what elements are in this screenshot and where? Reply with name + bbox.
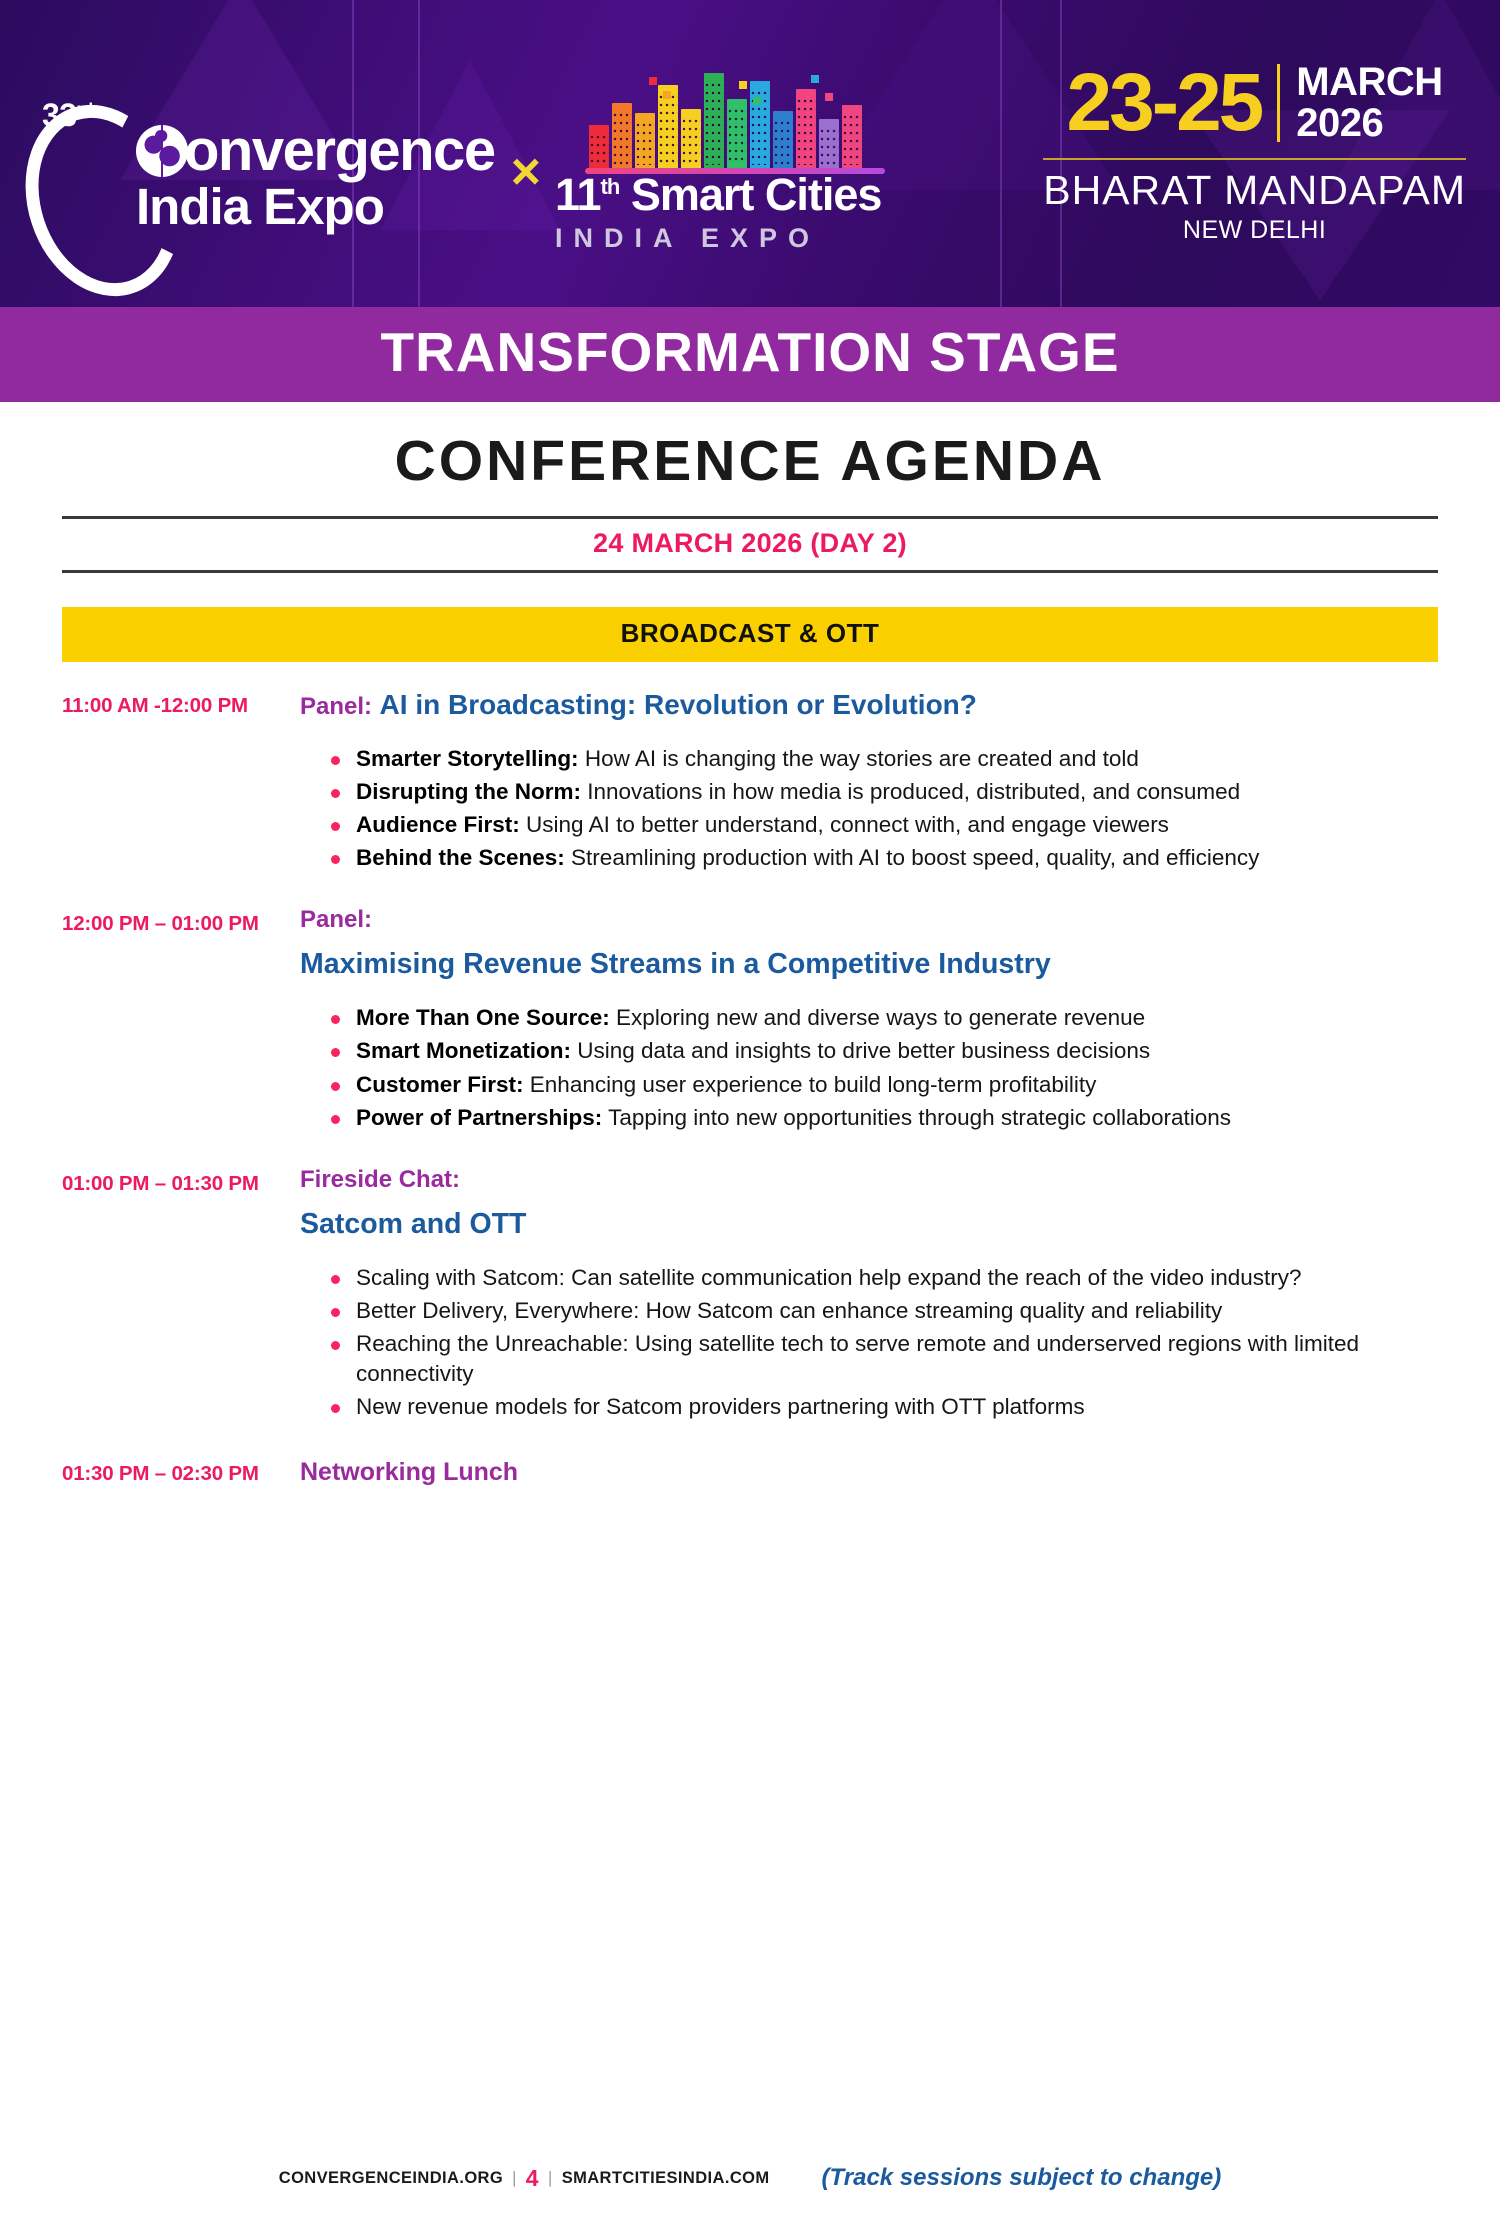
- footer-urls: CONVERGENCEINDIA.ORG | 4 | SMARTCITIESIN…: [279, 2165, 770, 2192]
- footer-note: (Track sessions subject to change): [822, 2164, 1222, 2192]
- session-point: Smart Monetization: Using data and insig…: [328, 1036, 1438, 1066]
- session-point: Disrupting the Norm: Innovations in how …: [328, 777, 1438, 807]
- event-date-range: 23-25: [1067, 66, 1262, 140]
- brand-line2: India Expo: [136, 181, 495, 232]
- agenda-date: 24 MARCH 2026 (DAY 2): [593, 528, 907, 558]
- page-number: 4: [526, 2165, 539, 2192]
- partner-ordinal: 11: [555, 169, 601, 220]
- event-year: 2026: [1296, 103, 1442, 144]
- point-lead: Audience First:: [356, 812, 520, 837]
- event-date-venue: 23-25 MARCH 2026 BHARAT MANDAPAM NEW DEL…: [1043, 62, 1474, 245]
- globe-icon: [136, 125, 188, 177]
- session-time: 01:30 PM – 02:30 PM: [62, 1456, 292, 1486]
- point-text: Reaching the Unreachable: Using satellit…: [356, 1331, 1359, 1386]
- session-body: Fireside Chat:Satcom and OTTScaling with…: [292, 1166, 1438, 1426]
- session-time: 11:00 AM -12:00 PM: [62, 688, 292, 718]
- session-row: 11:00 AM -12:00 PMPanel: AI in Broadcast…: [62, 688, 1438, 876]
- point-text: Using AI to better understand, connect w…: [520, 812, 1169, 837]
- point-lead: More Than One Source:: [356, 1005, 610, 1030]
- session-row: 01:00 PM – 01:30 PMFireside Chat:Satcom …: [62, 1166, 1438, 1426]
- point-text: Streamlining production with AI to boost…: [565, 845, 1260, 870]
- point-text: Using data and insights to drive better …: [571, 1038, 1150, 1063]
- session-point: Customer First: Enhancing user experienc…: [328, 1070, 1438, 1100]
- session-points: Scaling with Satcom: Can satellite commu…: [328, 1263, 1438, 1423]
- session-point: Smarter Storytelling: How AI is changing…: [328, 744, 1438, 774]
- point-text: Innovations in how media is produced, di…: [581, 779, 1240, 804]
- smart-cities-logo: 11th Smart Cities INDIA EXPO: [555, 71, 881, 254]
- event-venue: BHARAT MANDAPAM: [1043, 170, 1466, 211]
- session-point: More Than One Source: Exploring new and …: [328, 1003, 1438, 1033]
- session-kind: Fireside Chat:: [300, 1166, 1438, 1195]
- session-point: Power of Partnerships: Tapping into new …: [328, 1103, 1438, 1133]
- footer-divider-right: |: [548, 2169, 553, 2188]
- cross-symbol: ×: [511, 142, 541, 202]
- session-body: Networking Lunch: [292, 1456, 1438, 1487]
- session-heading: Panel: AI in Broadcasting: Revolution or…: [300, 688, 1438, 722]
- session-point: Audience First: Using AI to better under…: [328, 810, 1438, 840]
- venue-divider: [1043, 158, 1466, 160]
- page-title: CONFERENCE AGENDA: [0, 428, 1500, 494]
- track-name: BROADCAST & OTT: [621, 618, 880, 648]
- session-point: Better Delivery, Everywhere: How Satcom …: [328, 1296, 1438, 1326]
- session-body: Panel:Maximising Revenue Streams in a Co…: [292, 906, 1438, 1136]
- stage-title: TRANSFORMATION STAGE: [0, 325, 1500, 380]
- event-city: NEW DELHI: [1043, 216, 1466, 245]
- point-text: Tapping into new opportunities through s…: [602, 1105, 1231, 1130]
- page-footer: CONVERGENCEINDIA.ORG | 4 | SMARTCITIESIN…: [0, 2164, 1500, 2192]
- session-time: 12:00 PM – 01:00 PM: [62, 906, 292, 936]
- point-lead: Smart Monetization:: [356, 1038, 571, 1063]
- convergence-logo: 33rd onvergence India Expo: [20, 75, 495, 232]
- point-text: Scaling with Satcom: Can satellite commu…: [356, 1265, 1302, 1290]
- session-row: 01:30 PM – 02:30 PMNetworking Lunch: [62, 1456, 1438, 1487]
- agenda-date-strip: 24 MARCH 2026 (DAY 2): [62, 516, 1438, 573]
- agenda-page: 33rd onvergence India Expo ×: [0, 0, 1500, 2214]
- point-text: Enhancing user experience to build long-…: [524, 1072, 1097, 1097]
- session-list: 11:00 AM -12:00 PMPanel: AI in Broadcast…: [62, 662, 1438, 1487]
- date-divider: [1277, 64, 1280, 142]
- point-lead: Behind the Scenes:: [356, 845, 565, 870]
- point-lead: Customer First:: [356, 1072, 524, 1097]
- stage-band: TRANSFORMATION STAGE: [0, 307, 1500, 402]
- event-month: MARCH: [1296, 62, 1442, 103]
- point-text: Exploring new and diverse ways to genera…: [610, 1005, 1145, 1030]
- session-point: Scaling with Satcom: Can satellite commu…: [328, 1263, 1438, 1293]
- brand-line1: onvergence: [184, 123, 495, 179]
- session-points: Smarter Storytelling: How AI is changing…: [328, 744, 1438, 874]
- session-kind: Panel:: [300, 693, 372, 720]
- point-text: How AI is changing the way stories are c…: [579, 746, 1139, 771]
- session-body: Panel: AI in Broadcasting: Revolution or…: [292, 688, 1438, 876]
- skyline-icon: [589, 71, 881, 169]
- session-time: 01:00 PM – 01:30 PM: [62, 1166, 292, 1196]
- point-lead: Power of Partnerships:: [356, 1105, 602, 1130]
- footer-divider-left: |: [512, 2169, 517, 2188]
- track-header: BROADCAST & OTT: [62, 607, 1438, 662]
- session-topic: Maximising Revenue Streams in a Competit…: [300, 947, 1438, 981]
- session-title: Networking Lunch: [300, 1456, 1438, 1487]
- footer-url-right[interactable]: SMARTCITIESINDIA.COM: [562, 2169, 770, 2188]
- session-point: New revenue models for Satcom providers …: [328, 1392, 1438, 1422]
- point-lead: Disrupting the Norm:: [356, 779, 581, 804]
- session-kind: Panel:: [300, 906, 1438, 935]
- point-text: Better Delivery, Everywhere: How Satcom …: [356, 1298, 1222, 1323]
- edition-ordinal: 33rd: [42, 97, 93, 134]
- session-topic: AI in Broadcasting: Revolution or Evolut…: [380, 689, 977, 720]
- session-point: Reaching the Unreachable: Using satellit…: [328, 1329, 1438, 1389]
- point-lead: Smarter Storytelling:: [356, 746, 579, 771]
- session-row: 12:00 PM – 01:00 PMPanel:Maximising Reve…: [62, 906, 1438, 1136]
- partner-line2: INDIA EXPO: [555, 223, 881, 254]
- footer-url-left[interactable]: CONVERGENCEINDIA.ORG: [279, 2169, 503, 2188]
- partner-line1: Smart Cities: [631, 169, 882, 220]
- session-point: Behind the Scenes: Streamlining producti…: [328, 843, 1438, 873]
- session-topic: Satcom and OTT: [300, 1207, 1438, 1241]
- point-text: New revenue models for Satcom providers …: [356, 1394, 1085, 1419]
- event-banner: 33rd onvergence India Expo ×: [0, 0, 1500, 307]
- session-points: More Than One Source: Exploring new and …: [328, 1003, 1438, 1133]
